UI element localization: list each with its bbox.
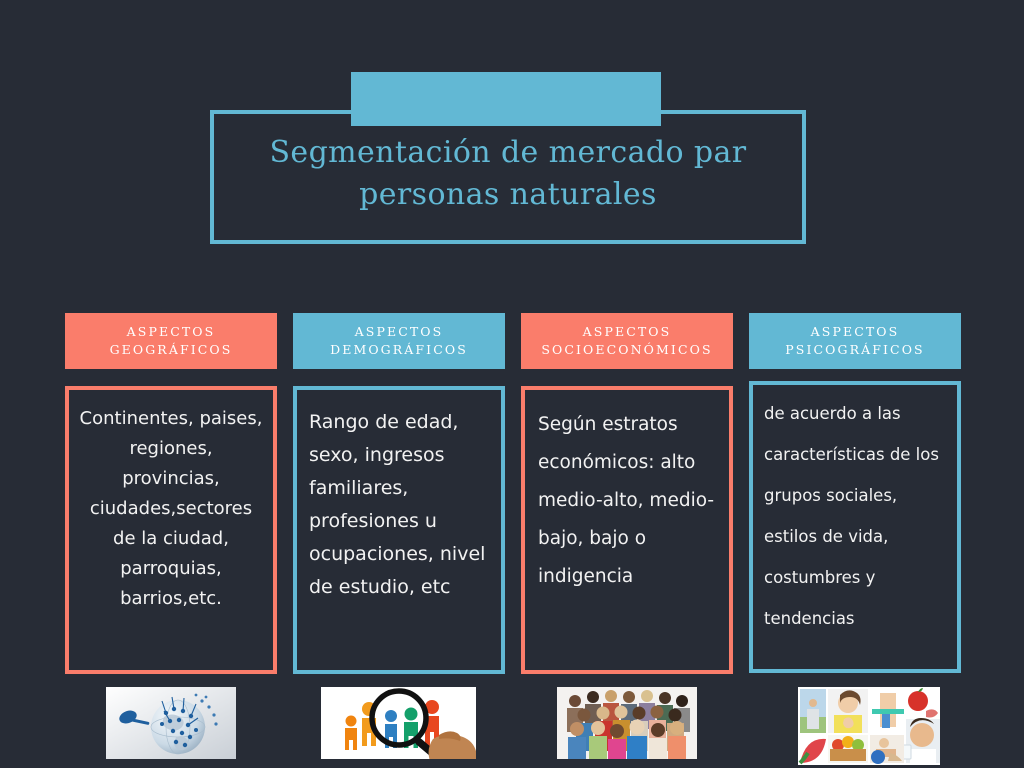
column-header-line-2: DEMOGRÁFICOS xyxy=(330,341,468,359)
column-header-line-1: ASPECTOS xyxy=(785,323,924,341)
column-header-line-1: ASPECTOS xyxy=(330,323,468,341)
column-header-demograficos: ASPECTOS DEMOGRÁFICOS xyxy=(293,313,505,369)
column-header-line-1: ASPECTOS xyxy=(110,323,233,341)
title-accent-tab xyxy=(351,72,661,126)
column-aspectos-psicograficos: ASPECTOS PSICOGRÁFICOS de acuerdo a las … xyxy=(749,313,961,369)
page-title-line-2: personas naturales xyxy=(210,174,806,216)
column-header-line-2: GEOGRÁFICOS xyxy=(110,341,233,359)
column-header-line-2: SOCIOECONÓMICOS xyxy=(541,341,712,359)
column-aspectos-socioeconomicos: ASPECTOS SOCIOECONÓMICOS Según estratos … xyxy=(521,313,733,369)
crowd-icon xyxy=(557,687,697,759)
column-body-demograficos: Rango de edad, sexo, ingresos familiares… xyxy=(293,386,505,674)
column-header-geograficos: ASPECTOS GEOGRÁFICOS xyxy=(65,313,277,369)
column-header-socioeconomicos: ASPECTOS SOCIOECONÓMICOS xyxy=(521,313,733,369)
magnifier-over-people-icons-image xyxy=(321,687,476,759)
globe-icon xyxy=(106,687,236,759)
column-header-psicograficos: ASPECTOS PSICOGRÁFICOS xyxy=(749,313,961,369)
page-title-line-1: Segmentación de mercado par xyxy=(210,132,806,174)
healthy-lifestyle-collage-image xyxy=(798,687,940,765)
page-title: Segmentación de mercado par personas nat… xyxy=(210,132,806,216)
column-aspectos-geograficos: ASPECTOS GEOGRÁFICOS Continentes, paises… xyxy=(65,313,277,369)
crowd-of-people-photo xyxy=(557,687,697,759)
column-aspectos-demograficos: ASPECTOS DEMOGRÁFICOS Rango de edad, sex… xyxy=(293,313,505,369)
column-body-psicograficos: de acuerdo a las características de los … xyxy=(749,381,961,673)
column-header-line-2: PSICOGRÁFICOS xyxy=(785,341,924,359)
segmentation-columns: ASPECTOS GEOGRÁFICOS Continentes, paises… xyxy=(0,313,1024,768)
magnifier-people-icon xyxy=(321,687,476,759)
column-header-line-1: ASPECTOS xyxy=(541,323,712,341)
column-body-geograficos: Continentes, paises, regiones, provincia… xyxy=(65,386,277,674)
column-body-socioeconomicos: Según estratos económicos: alto medio-al… xyxy=(521,386,733,674)
title-block: Segmentación de mercado par personas nat… xyxy=(210,72,806,244)
lifestyle-collage-icon xyxy=(798,687,940,765)
globe-with-map-pins-image xyxy=(106,687,236,759)
